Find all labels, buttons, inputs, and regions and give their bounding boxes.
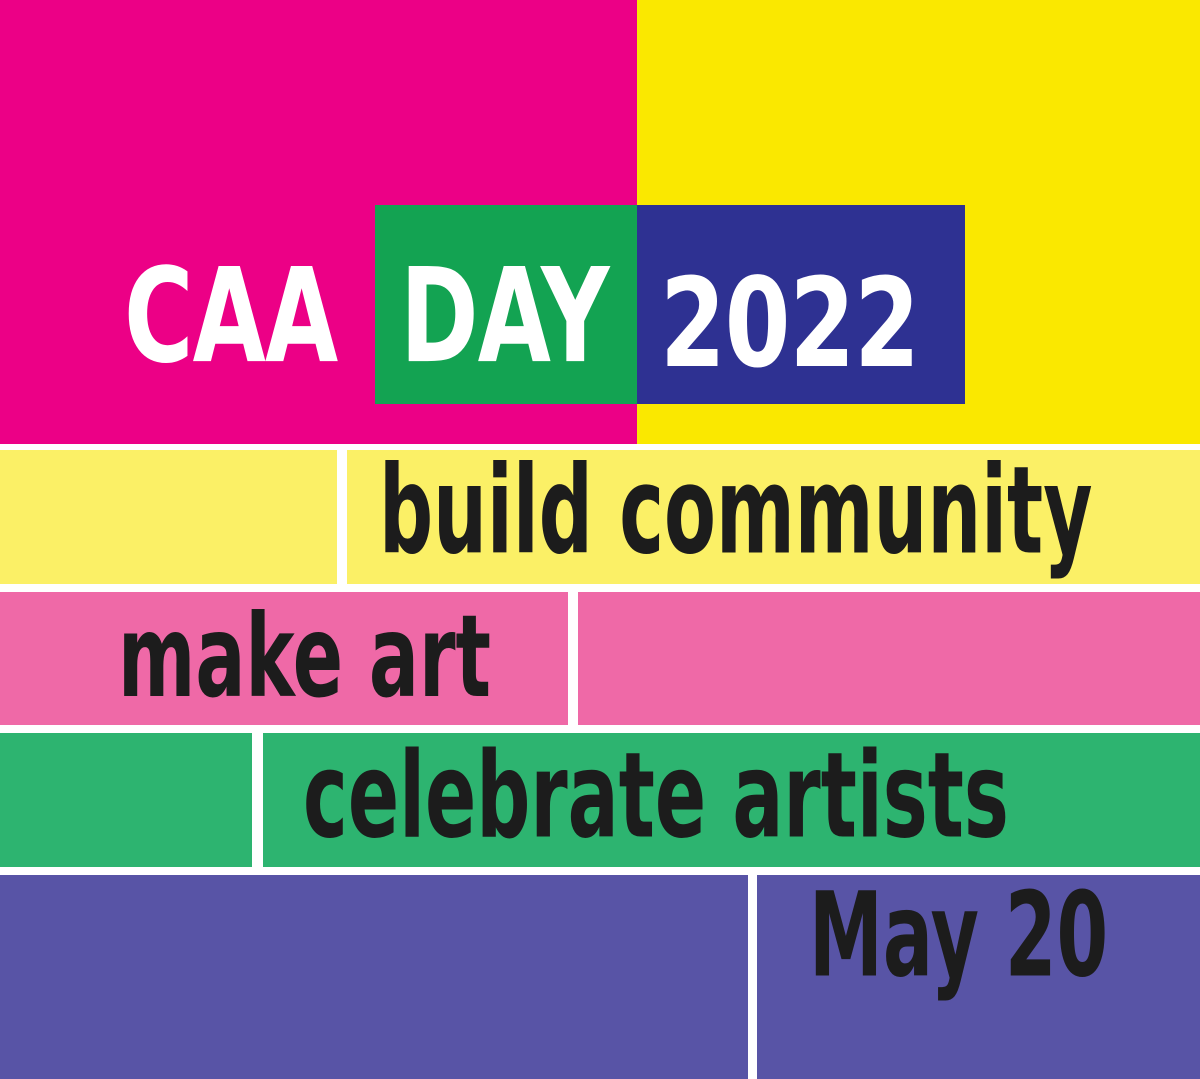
tagline-build-community: build community [379,452,1092,573]
logo-green-block [375,205,637,404]
band-3-left-chip [0,733,252,867]
band-1-left-chip [0,450,337,584]
band-2-left-chip: make art [0,592,568,725]
poster-canvas: CAA DAY 2022 build community make art ce… [0,0,1200,1079]
band-4-left-chip [0,875,748,1079]
tagline-make-art: make art [118,600,491,714]
tagline-celebrate-artists: celebrate artists [303,738,1009,857]
band-4-right-chip: May 20 [757,875,1200,1079]
band-2-right-chip [578,592,1200,725]
tagline-band-celebrate-artists: celebrate artists [0,733,1200,867]
tagline-band-build-community: build community [0,450,1200,584]
date-band: May 20 [0,875,1200,1079]
logo-navy-block [637,205,965,404]
band-1-right-chip: build community [347,450,1200,584]
band-3-right-chip: celebrate artists [263,733,1200,867]
event-date: May 20 [809,878,1108,995]
tagline-band-make-art: make art [0,592,1200,725]
masthead: CAA DAY 2022 [0,0,1200,444]
